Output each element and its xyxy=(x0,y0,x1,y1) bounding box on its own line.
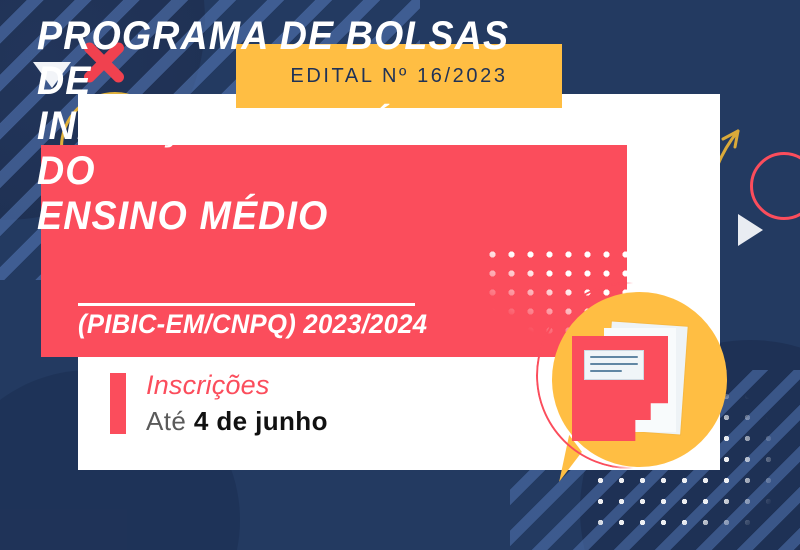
poster-canvas: EDITAL Nº 16/2023 PROGRAMA DE BOLSAS DE … xyxy=(0,0,800,550)
folder-label xyxy=(584,350,644,380)
page-title: PROGRAMA DE BOLSAS DE INICIAÇÃO CIENTÍFI… xyxy=(37,14,545,239)
page-subtitle: (PIBIC-EM/CNPQ) 2023/2024 xyxy=(78,309,427,340)
deadline-prefix: Até xyxy=(146,406,194,436)
inscricoes-accent-bar xyxy=(110,373,126,434)
inscricoes-deadline: Até 4 de junho xyxy=(146,406,328,437)
title-divider xyxy=(78,303,415,306)
deadline-date: 4 de junho xyxy=(194,406,328,436)
triangle-right-icon xyxy=(738,214,763,246)
folder-illustration xyxy=(540,288,750,488)
inscricoes-heading: Inscrições xyxy=(146,370,270,401)
